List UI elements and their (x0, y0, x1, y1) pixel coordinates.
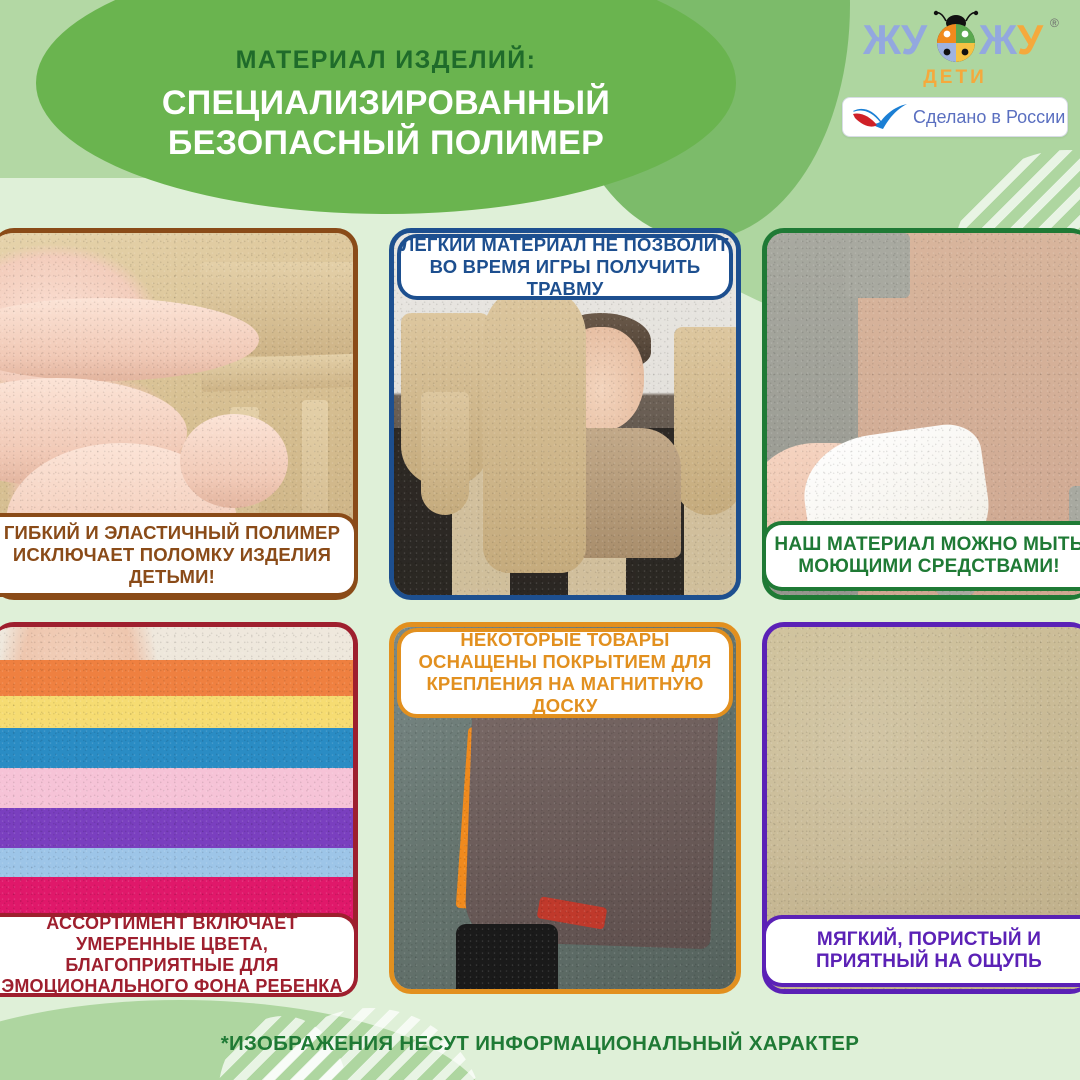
logo-letter-u-1: У (901, 16, 927, 64)
logo-letter-u-2: У (1017, 16, 1043, 64)
logo-subtitle: ДЕТИ (923, 67, 986, 89)
logo-letter-zh-1: Ж (863, 16, 901, 64)
made-in-russia-badge: Сделано в России (842, 97, 1068, 137)
caption-soft-porous: МЯГКИЙ, ПОРИСТЫЙ И ПРИЯТНЫЙ НА ОЩУПЬ (762, 915, 1080, 987)
caption-lightweight-safe: ЛЕГКИЙ МАТЕРИАЛ НЕ ПОЗВОЛИТ ВО ВРЕМЯ ИГР… (397, 234, 733, 300)
page-title-line-1: СПЕЦИАЛИЗИРОВАННЫЙ (162, 84, 610, 124)
ladybug-icon (933, 10, 979, 68)
page-title: СПЕЦИАЛИЗИРОВАННЫЙ БЕЗОПАСНЫЙ ПОЛИМЕР (162, 84, 610, 164)
infographic-root: МАТЕРИАЛ ИЗДЕЛИЙ: СПЕЦИАЛИЗИРОВАННЫЙ БЕЗ… (0, 0, 1080, 1080)
page-title-line-2: БЕЗОПАСНЫЙ ПОЛИМЕР (162, 124, 610, 164)
logo-letter-zh-2: Ж (979, 16, 1017, 64)
caption-color-assortment: АССОРТИМЕНТ ВКЛЮЧАЕТ УМЕРЕННЫЕ ЦВЕТА, БЛ… (0, 913, 358, 997)
registered-mark: ® (1050, 16, 1059, 30)
brand-logo: Ж У Ж У ® ДЕТИ (838, 8, 1072, 137)
made-in-russia-label: Сделано в России (913, 107, 1065, 128)
footer-disclaimer: *ИЗОБРАЖЕНИЯ НЕСУТ ИНФОРМАЦИОНАЛЬНЫЙ ХАР… (0, 1032, 1080, 1056)
caption-flexible-polymer: ГИБКИЙ И ЭЛАСТИЧНЫЙ ПОЛИМЕР ИСКЛЮЧАЕТ ПО… (0, 513, 358, 597)
caption-magnetic-backing: НЕКОТОРЫЕ ТОВАРЫ ОСНАЩЕНЫ ПОКРЫТИЕМ ДЛЯ … (397, 628, 733, 718)
russian-flag-check-icon (851, 102, 909, 132)
caption-washable: НАШ МАТЕРИАЛ МОЖНО МЫТЬ МОЮЩИМИ СРЕДСТВА… (762, 521, 1080, 591)
title-kicker: МАТЕРИАЛ ИЗДЕЛИЙ: (236, 46, 537, 75)
logo-wordmark: Ж У Ж У ® (849, 8, 1061, 70)
